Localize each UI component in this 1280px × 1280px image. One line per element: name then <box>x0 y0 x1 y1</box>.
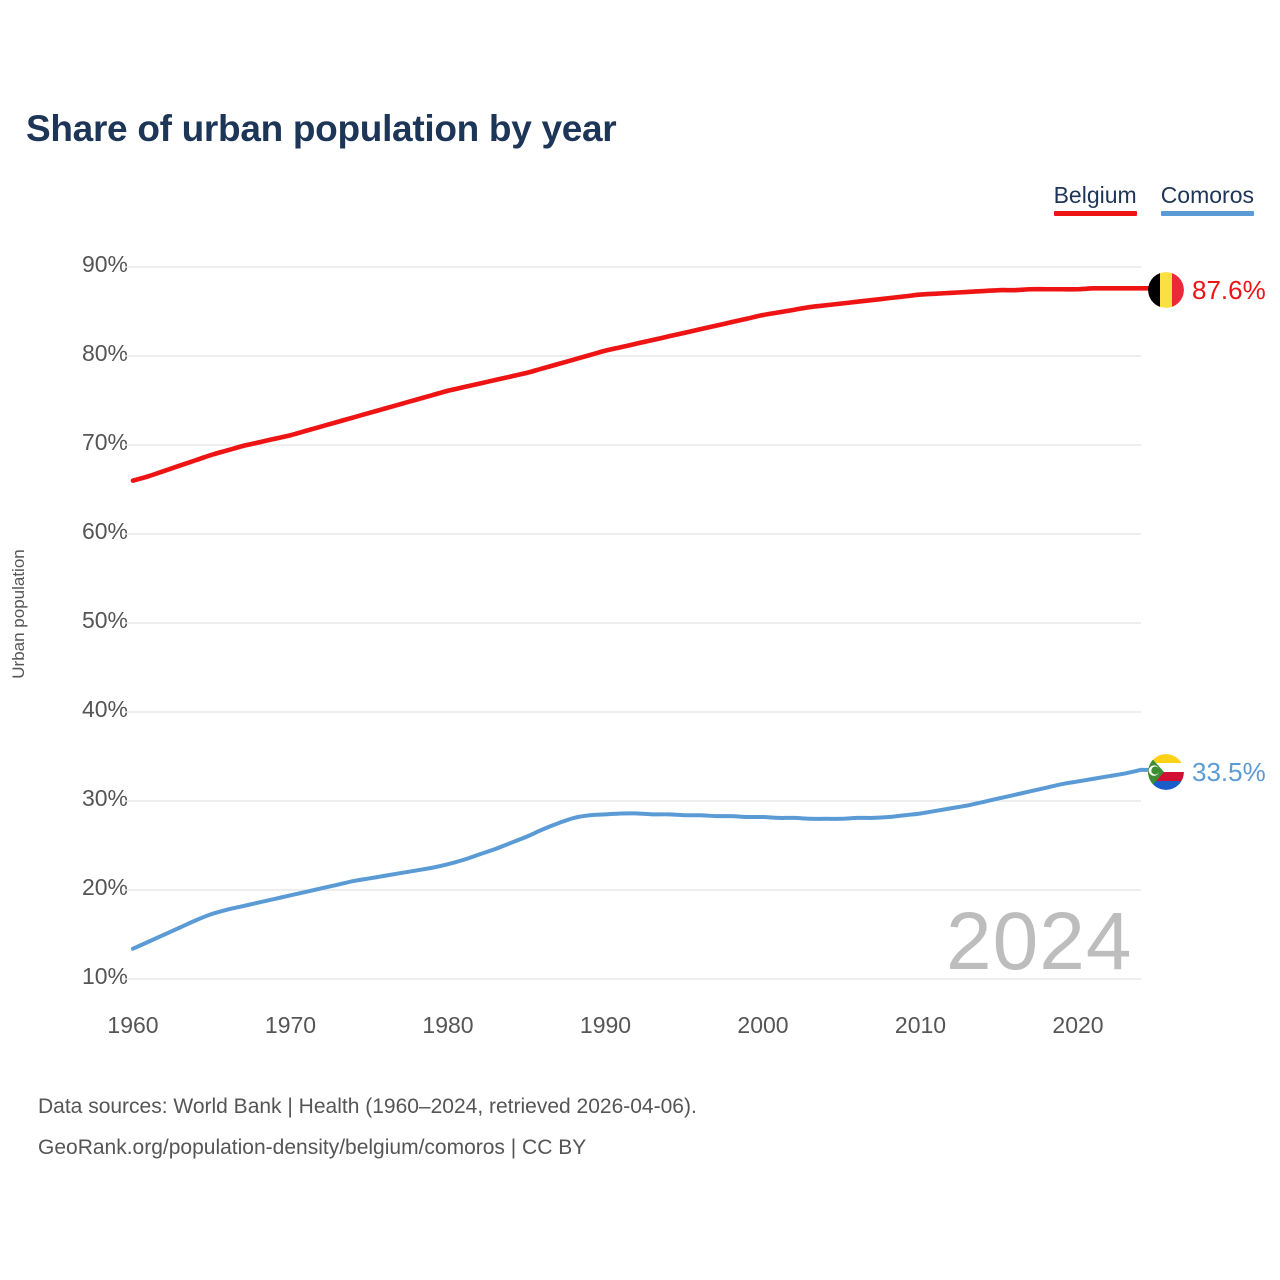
legend-rule-comoros <box>1161 211 1254 216</box>
comoros-endpoint-value: 33.5% <box>1192 757 1266 788</box>
belgium-endpoint-value: 87.6% <box>1192 275 1266 306</box>
y-tick-label: 90% <box>46 251 128 278</box>
y-tick-label: 50% <box>46 607 128 634</box>
y-tick-label: 70% <box>46 429 128 456</box>
gridlines <box>125 267 1141 979</box>
legend-item-belgium[interactable]: Belgium <box>1054 182 1137 216</box>
y-tick-label: 10% <box>46 963 128 990</box>
comoros-endpoint: 33.5% <box>1148 754 1266 790</box>
x-tick-label: 2000 <box>737 1012 788 1039</box>
y-tick-label: 20% <box>46 874 128 901</box>
page-title: Share of urban population by year <box>26 108 616 150</box>
footer: Data sources: World Bank | Health (1960–… <box>38 1086 697 1168</box>
footer-line-url: GeoRank.org/population-density/belgium/c… <box>38 1127 697 1168</box>
footer-line-sources: Data sources: World Bank | Health (1960–… <box>38 1086 697 1127</box>
x-tick-label: 2010 <box>895 1012 946 1039</box>
legend: Belgium Comoros <box>1054 182 1254 216</box>
belgium-endpoint: 87.6% <box>1148 272 1266 308</box>
y-axis-label: Urban population <box>9 549 29 678</box>
x-tick-label: 1970 <box>265 1012 316 1039</box>
x-tick-label: 1980 <box>422 1012 473 1039</box>
legend-rule-belgium <box>1054 211 1137 216</box>
legend-label-comoros: Comoros <box>1161 182 1254 208</box>
y-tick-label: 30% <box>46 785 128 812</box>
y-tick-label: 60% <box>46 518 128 545</box>
y-tick-label: 40% <box>46 696 128 723</box>
comoros-flag-icon <box>1148 754 1184 790</box>
legend-item-comoros[interactable]: Comoros <box>1161 182 1254 216</box>
legend-label-belgium: Belgium <box>1054 182 1137 208</box>
y-tick-label: 80% <box>46 340 128 367</box>
x-tick-label: 1990 <box>580 1012 631 1039</box>
year-watermark: 2024 <box>946 895 1132 989</box>
x-tick-label: 2020 <box>1052 1012 1103 1039</box>
belgium-flag-icon <box>1148 272 1184 308</box>
series-line-belgium <box>133 288 1141 480</box>
x-tick-label: 1960 <box>107 1012 158 1039</box>
series-lines <box>133 288 1152 948</box>
chart-page: Share of urban population by year Belgiu… <box>0 0 1280 1280</box>
